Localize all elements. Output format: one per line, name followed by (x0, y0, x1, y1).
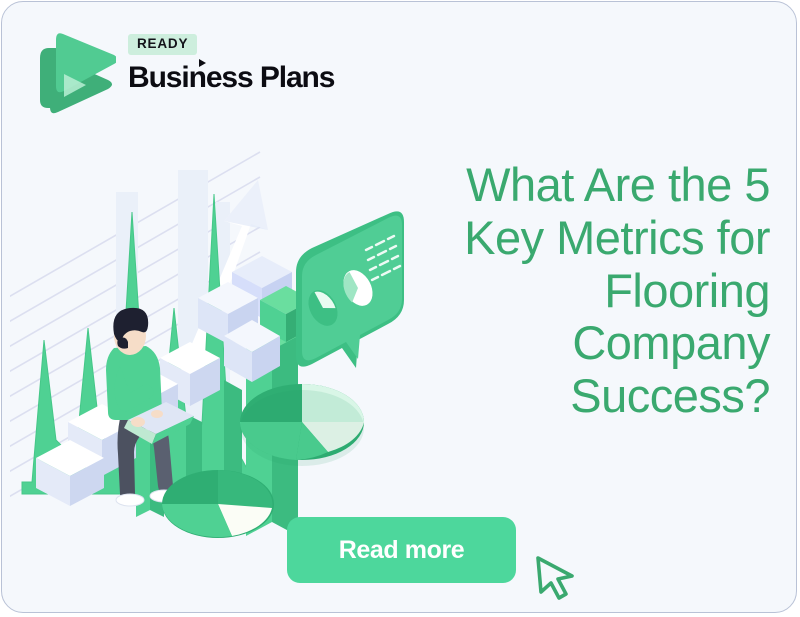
pie-chart-large (240, 384, 364, 466)
headline-line-1: What Are the 5 (420, 159, 770, 212)
headline-line-4: Company (420, 317, 770, 370)
brand-wordmark: Business Plans (128, 62, 328, 94)
brand-wordmark-label: Business Plans (128, 61, 334, 94)
headline-line-3: Flooring (420, 265, 770, 318)
promo-banner: READY Business Plans What Are the 5 Key … (1, 1, 797, 613)
ready-badge: READY (128, 34, 197, 55)
pie-chart-small (162, 470, 274, 538)
brand-text: READY Business Plans (128, 34, 328, 93)
headline-line-5: Success? (420, 370, 770, 423)
mouse-cursor-arrow-icon (532, 552, 580, 604)
chat-bubble-with-charts (296, 211, 404, 368)
isometric-business-analytics-illustration (10, 122, 430, 542)
brand-logo[interactable]: READY Business Plans (28, 26, 318, 118)
read-more-button[interactable]: Read more (287, 517, 516, 583)
play-triangle-accent-icon (199, 59, 206, 67)
headline-line-2: Key Metrics for (420, 212, 770, 265)
double-play-triangle-icon (28, 28, 116, 116)
cta-row: Read more (287, 517, 516, 587)
headline: What Are the 5 Key Metrics for Flooring … (420, 159, 770, 422)
